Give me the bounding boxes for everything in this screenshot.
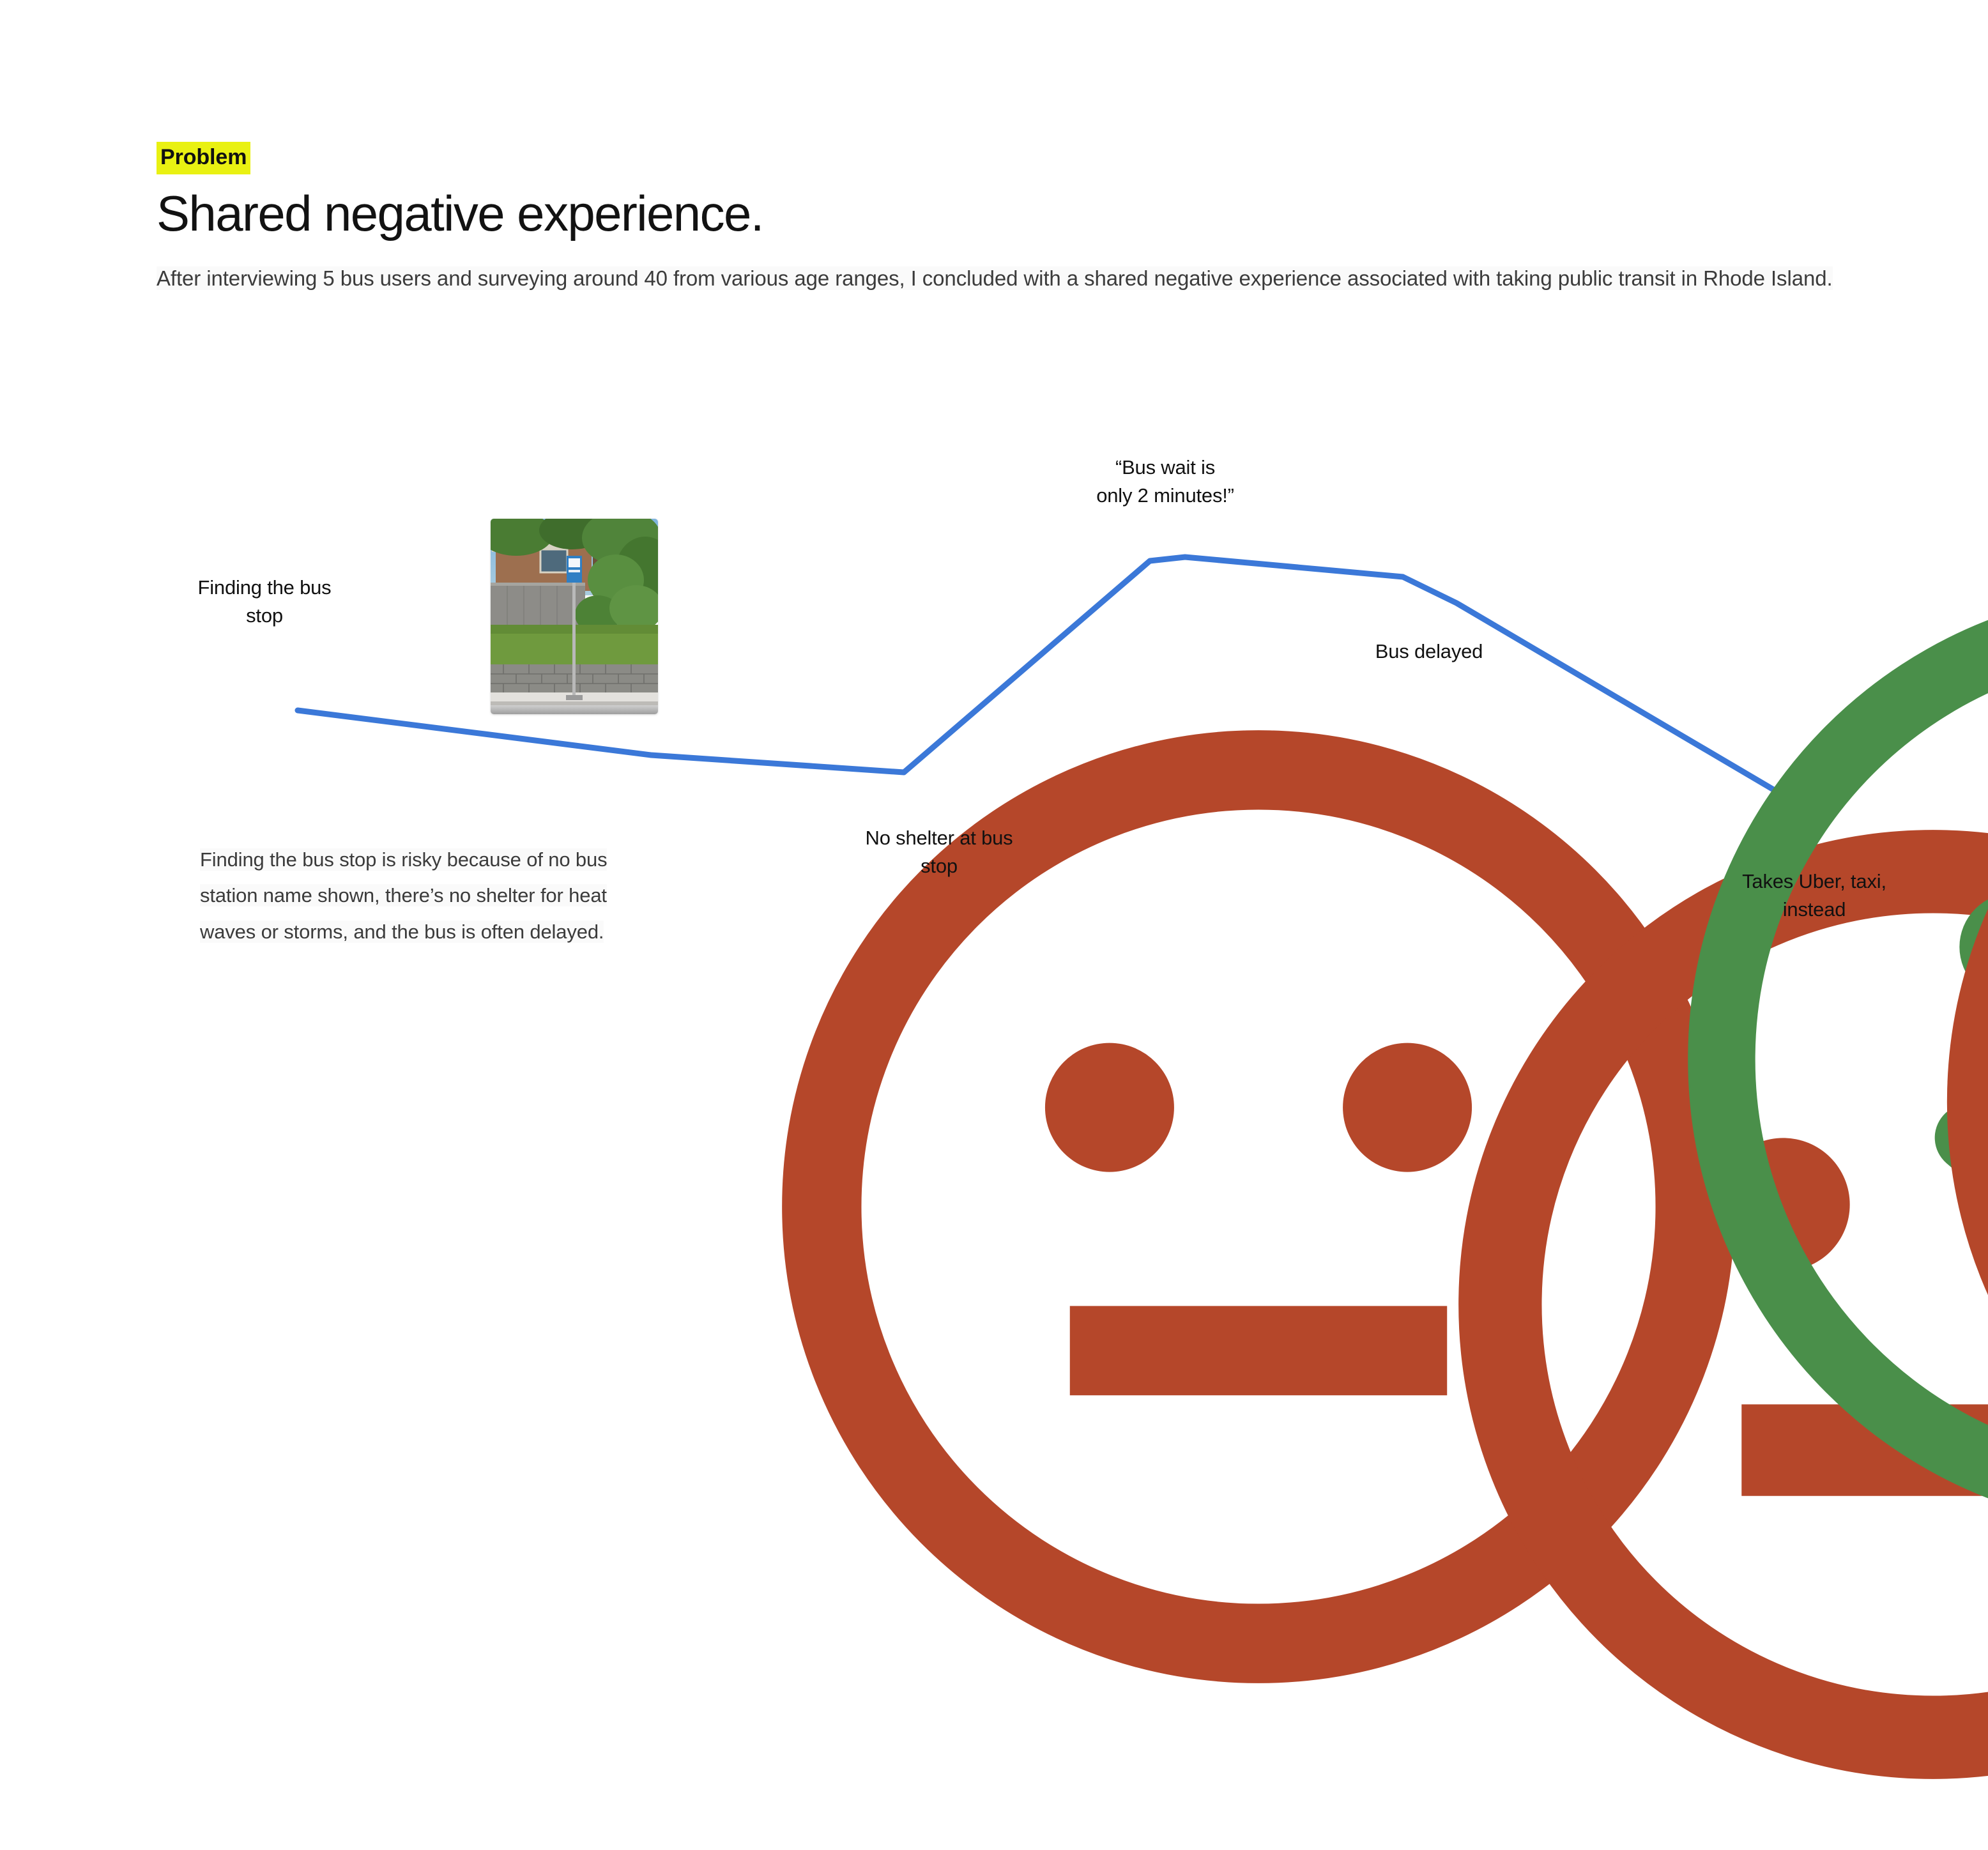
header-block: Problem Shared negative experience. Afte… <box>157 142 1920 295</box>
insight-note: Finding the bus stop is risky because of… <box>200 842 666 950</box>
journey-label-takes-uber: Takes Uber, taxi, instead <box>1742 868 1886 924</box>
journey-label-no-shelter: No shelter at bus stop <box>866 824 1013 880</box>
bus-stop-photo-image <box>491 519 658 714</box>
eyebrow-wrap: Problem <box>157 142 1920 174</box>
neutral-face-icon <box>1814 818 1988 1850</box>
intro-text: After interviewing 5 bus users and surve… <box>157 266 1833 290</box>
insight-note-text: Finding the bus stop is risky because of… <box>200 848 607 943</box>
section-badge: Problem <box>157 142 250 174</box>
intro-paragraph: After interviewing 5 bus users and surve… <box>157 261 1920 295</box>
page-title: Shared negative experience. <box>157 188 1920 238</box>
bus-stop-photo <box>491 519 658 714</box>
journey-label-finding-bus-stop: Finding the bus stop <box>198 574 332 630</box>
journey-quote-bus-wait: “Bus wait is only 2 minutes!” <box>1096 454 1234 510</box>
journey-label-bus-delayed: Bus delayed <box>1375 638 1483 666</box>
